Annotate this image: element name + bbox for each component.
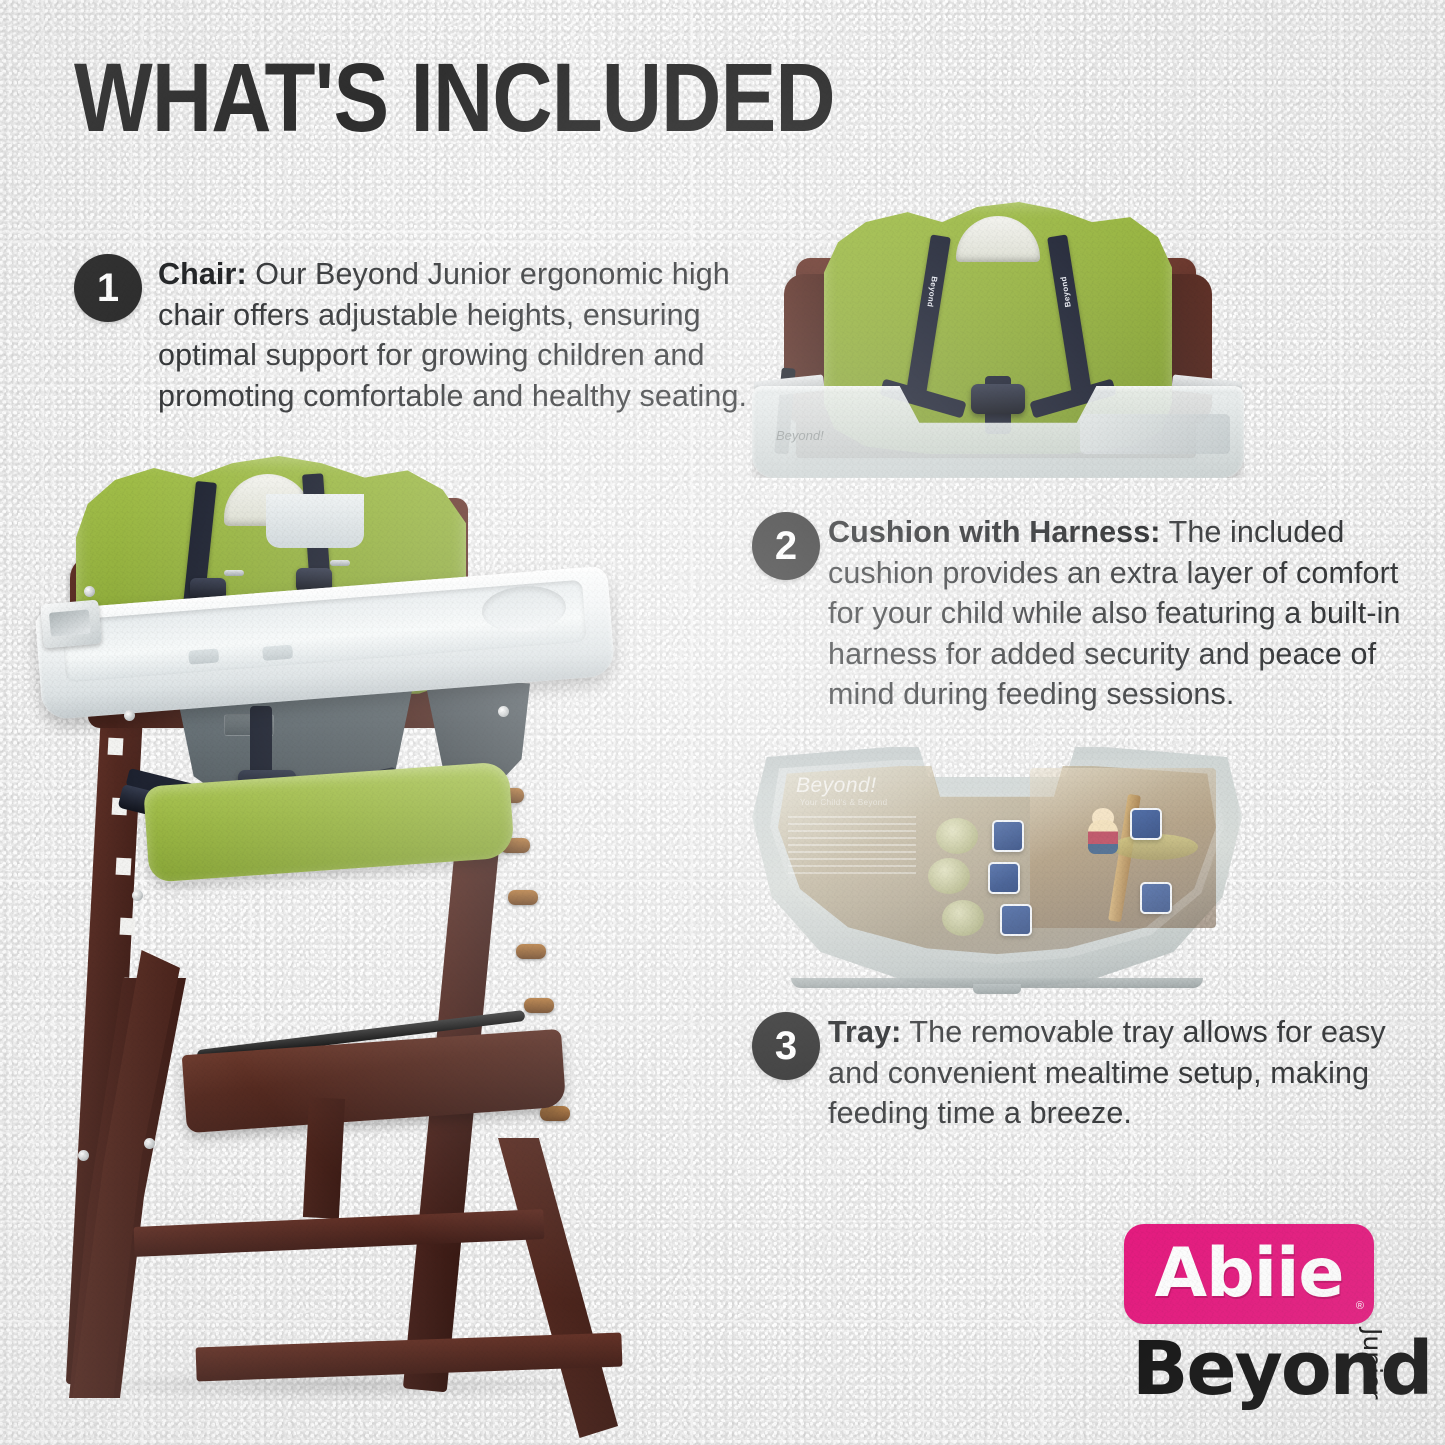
strap-brand-label: Beyond [1059,276,1073,308]
infographic-canvas: WHAT'S INCLUDED [0,0,1445,1445]
logo-product-tier: Junior [1358,1328,1387,1400]
screw [124,710,135,721]
rail-notch [108,738,124,756]
product-photo-cushion-harness: Beyond Beyond Beyond! [748,178,1248,478]
footrest-brace [303,1097,345,1219]
product-photo-tray: Beyond! Your Child's & Beyond [752,742,1242,992]
rail-peg [540,1106,570,1121]
screw [498,706,509,717]
tray-nub [262,645,293,661]
screw [144,1138,155,1149]
page-title: WHAT'S INCLUDED [74,49,835,146]
strap-brand-label: Beyond [925,276,939,308]
step-badge-2: 2 [752,512,820,580]
tray-front-lip [266,494,364,548]
screw [84,586,95,597]
feature-label-cushion: Cushion with Harness: [828,515,1161,549]
rail-peg [524,998,554,1013]
feature-label-chair: Chair: [158,257,247,291]
tray-nub [188,648,219,664]
product-photo-chair [28,438,668,1368]
tray-right-panel [1080,414,1230,454]
logo-pink-plate: Abiie ® [1124,1224,1374,1324]
feature-text-tray: Tray: The removable tray allows for easy… [828,1012,1408,1134]
rail-peg [508,890,538,905]
feature-text-cushion: Cushion with Harness: The included cushi… [828,512,1408,715]
tray-brand-label: Beyond! [776,428,824,443]
tray-mount-bracket [40,600,102,649]
screw [132,890,143,901]
rail-notch [116,858,132,876]
step-badge-3: 3 [752,1012,820,1080]
feature-text-chair: Chair: Our Beyond Junior ergonomic high … [158,254,798,416]
registered-trademark-icon: ® [1356,1300,1364,1312]
step-badge-1: 1 [74,254,142,322]
brand-logo: Abiie ® Beyond Junior [1110,1224,1402,1434]
harness-center-buckle [971,384,1025,414]
chair-cross-brace-upper [134,1209,545,1257]
feature-body-chair: Our Beyond Junior ergonomic high chair o… [158,257,747,413]
harness-strap-tip [330,560,350,566]
tray-center-nub [973,984,1021,994]
rail-peg [516,944,546,959]
feature-body-tray: The removable tray allows for easy and c… [828,1015,1386,1130]
screw [78,1150,89,1161]
rail-notch [120,918,136,936]
logo-brand-text: Abiie [1124,1224,1374,1324]
harness-strap-tip [224,570,244,576]
feature-label-tray: Tray: [828,1015,901,1049]
